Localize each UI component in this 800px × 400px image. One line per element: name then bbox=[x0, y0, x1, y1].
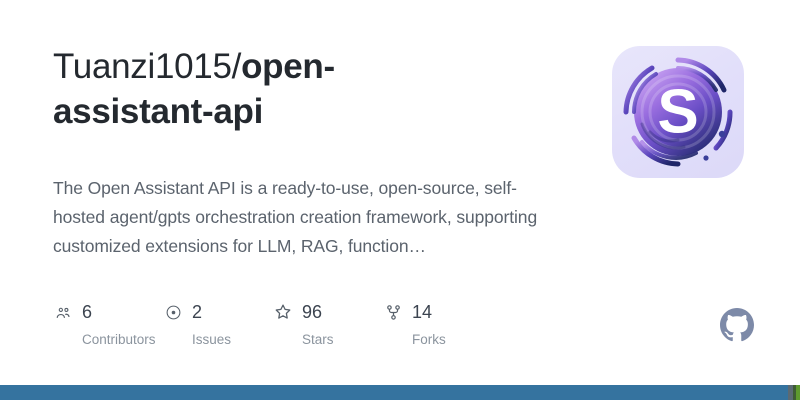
repo-separator: / bbox=[232, 47, 241, 86]
people-icon bbox=[53, 302, 73, 322]
page-title: Tuanzi1015/open-assistant-api bbox=[53, 44, 473, 134]
bar-segment-green bbox=[796, 385, 800, 400]
repo-owner[interactable]: Tuanzi1015 bbox=[53, 47, 232, 86]
repo-preview-card: Tuanzi1015/open-assistant-api bbox=[0, 0, 800, 385]
stat-issues[interactable]: 2 Issues bbox=[163, 300, 273, 348]
avatar-letter: S bbox=[657, 78, 698, 147]
star-icon bbox=[273, 302, 293, 322]
stat-top: 2 bbox=[163, 300, 202, 324]
stat-contributors[interactable]: 6 Contributors bbox=[53, 300, 163, 348]
stat-forks[interactable]: 14 Forks bbox=[383, 300, 493, 348]
stat-label: Issues bbox=[192, 332, 231, 348]
repo-header: Tuanzi1015/open-assistant-api bbox=[53, 44, 753, 178]
github-octocat-icon bbox=[720, 308, 754, 342]
bottom-accent-bar bbox=[0, 385, 800, 400]
repo-forked-icon bbox=[383, 302, 403, 322]
issue-opened-icon bbox=[163, 302, 183, 322]
stat-value: 2 bbox=[192, 302, 202, 322]
repo-description: The Open Assistant API is a ready-to-use… bbox=[53, 174, 545, 261]
bar-segment-blue bbox=[0, 385, 788, 400]
stat-label: Contributors bbox=[82, 332, 156, 348]
stat-top: 14 bbox=[383, 300, 432, 324]
stat-value: 96 bbox=[302, 302, 322, 322]
repo-stats: 6 Contributors 2 Issues bbox=[53, 300, 753, 348]
avatar: S bbox=[612, 46, 744, 178]
stat-label: Stars bbox=[302, 332, 334, 348]
stat-top: 96 bbox=[273, 300, 322, 324]
stat-value: 6 bbox=[82, 302, 92, 322]
stat-top: 6 bbox=[53, 300, 92, 324]
stat-label: Forks bbox=[412, 332, 446, 348]
stat-value: 14 bbox=[412, 302, 432, 322]
stat-stars[interactable]: 96 Stars bbox=[273, 300, 383, 348]
